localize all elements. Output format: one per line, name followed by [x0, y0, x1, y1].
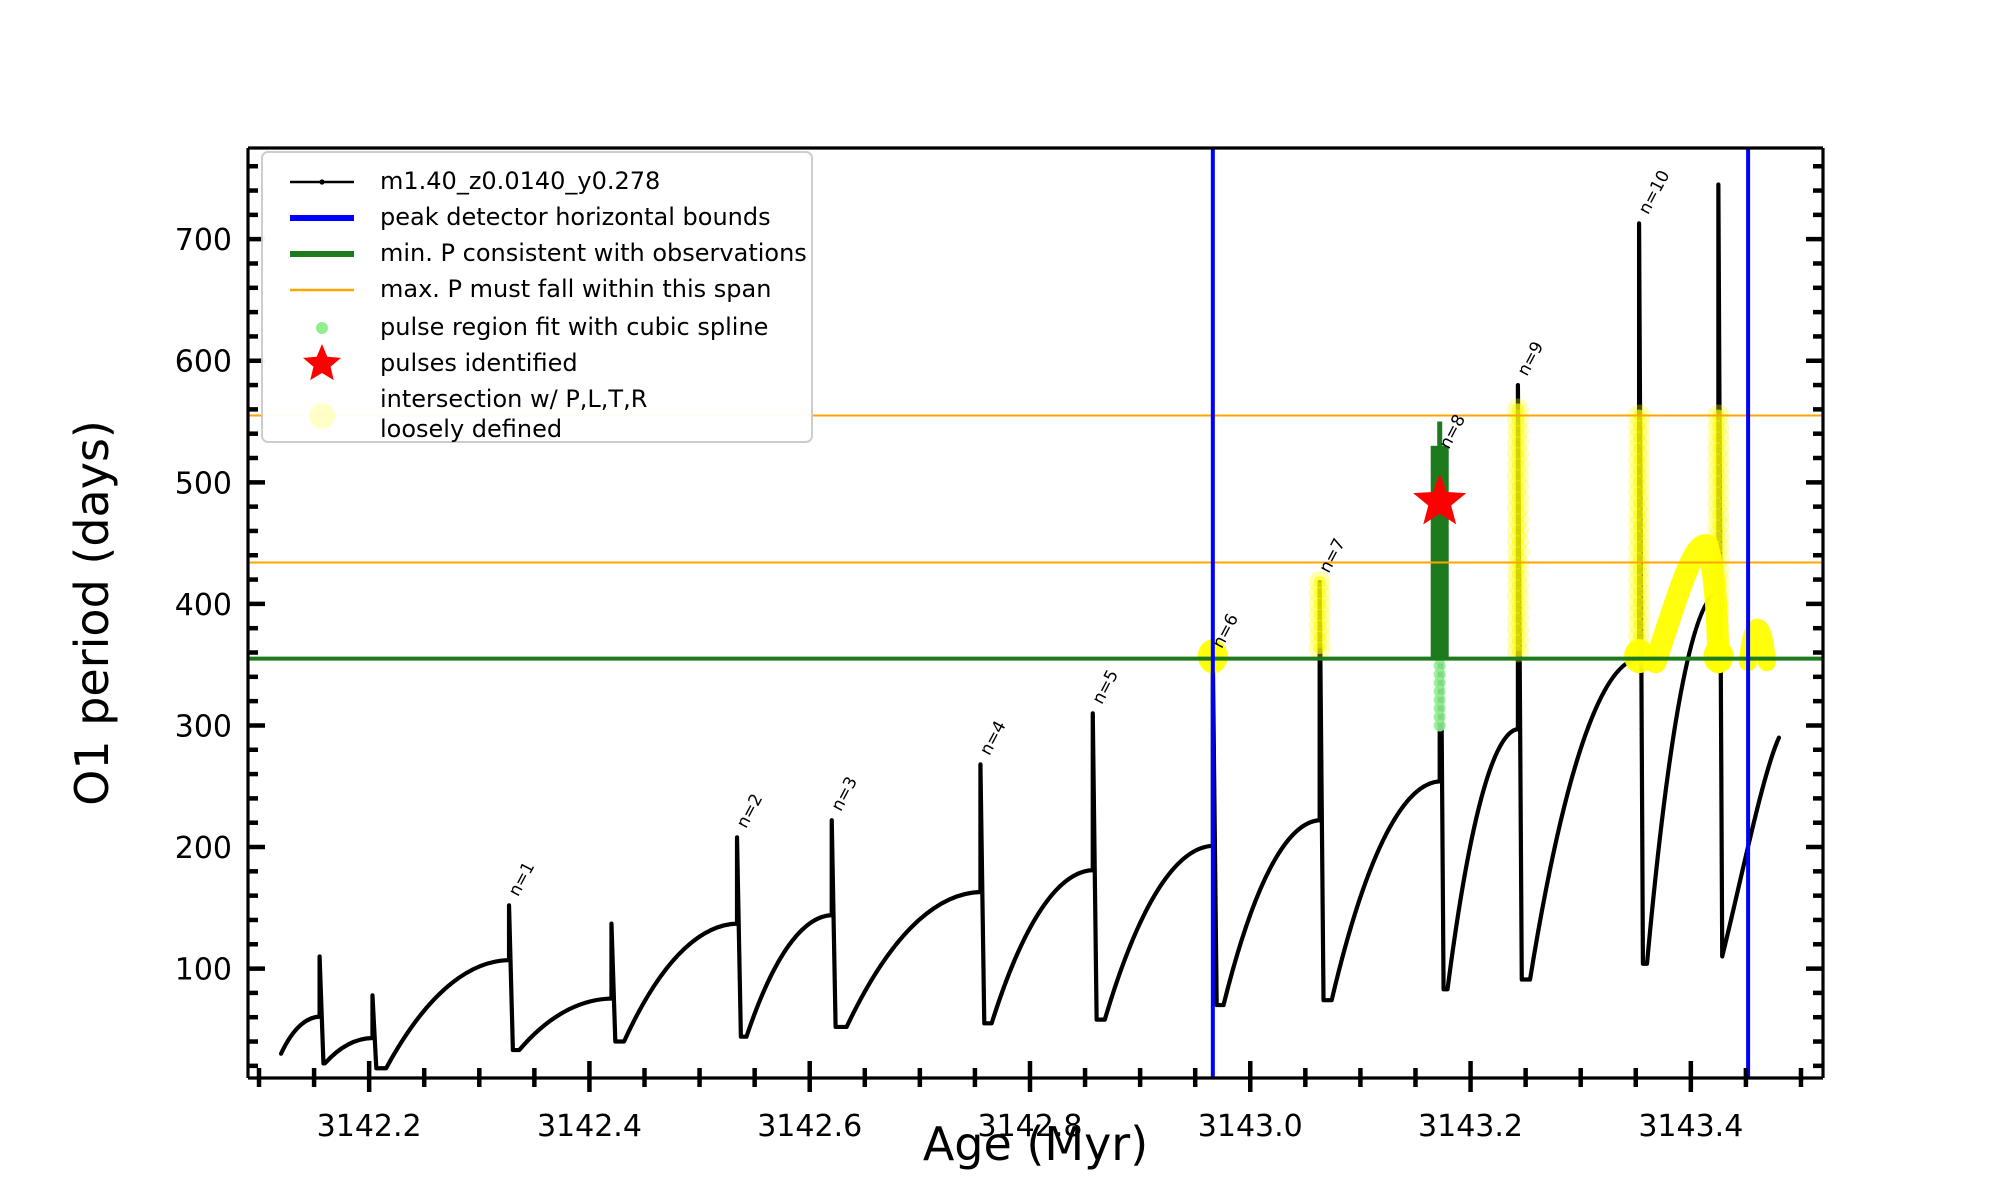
track-point	[1734, 896, 1738, 900]
track-point	[1717, 335, 1721, 339]
track-point	[1640, 713, 1644, 717]
track-point	[320, 1020, 324, 1024]
track-point	[1440, 821, 1444, 825]
green-pulse-region-group	[1431, 422, 1449, 659]
track-point	[1719, 713, 1723, 717]
track-point	[1441, 926, 1445, 930]
track-point	[1717, 237, 1721, 241]
track-point	[1519, 896, 1523, 900]
track-point	[1321, 982, 1325, 986]
track-point	[1441, 849, 1445, 853]
track-point	[833, 973, 837, 977]
track-point	[1538, 922, 1542, 926]
track-point	[1637, 251, 1641, 255]
track-point	[1717, 314, 1721, 318]
track-point	[1520, 931, 1524, 935]
track-point	[1319, 758, 1323, 762]
track-point	[1740, 869, 1744, 873]
track-point	[518, 1047, 522, 1051]
legend-label: min. P consistent with observations	[380, 239, 807, 267]
track-point	[1256, 894, 1260, 898]
track-point	[1719, 727, 1723, 731]
track-point	[1663, 796, 1667, 800]
track-point	[1719, 776, 1723, 780]
track-point	[1320, 835, 1324, 839]
track-point	[1519, 784, 1523, 788]
track-point	[1648, 935, 1652, 939]
track-point	[1720, 818, 1724, 822]
track-point	[985, 1021, 989, 1025]
track-point	[1640, 804, 1644, 808]
x-axis-label: Age (Myr)	[923, 1117, 1148, 1171]
track-point	[1520, 945, 1524, 949]
legend-label: pulse region fit with cubic spline	[380, 313, 768, 341]
track-point	[1640, 706, 1644, 710]
track-point	[1640, 811, 1644, 815]
track-point	[738, 1004, 742, 1008]
track-point	[1251, 907, 1255, 911]
track-point	[1775, 741, 1779, 745]
track-point	[1660, 817, 1664, 821]
track-point	[982, 975, 986, 979]
track-point	[827, 913, 831, 917]
track-point	[613, 1026, 617, 1030]
track-point	[1127, 948, 1131, 952]
track-point	[1717, 258, 1721, 262]
track-point	[1662, 803, 1666, 807]
track-point	[377, 1066, 381, 1070]
track-point	[1440, 772, 1444, 776]
track-point	[612, 984, 616, 988]
legend[interactable]: m1.40_z0.0140_y0.278peak detector horizo…	[262, 152, 812, 443]
track-point	[1641, 923, 1645, 927]
track-point	[1106, 1008, 1110, 1012]
track-point	[1337, 968, 1341, 972]
track-point	[705, 931, 709, 935]
track-point	[290, 1034, 294, 1038]
track-point	[1197, 847, 1201, 851]
track-point	[459, 975, 463, 979]
track-point	[1768, 761, 1772, 765]
track-point	[580, 1002, 584, 1006]
track-point	[981, 947, 985, 951]
track-point	[1441, 856, 1445, 860]
track-point	[770, 971, 774, 975]
track-point	[1519, 868, 1523, 872]
track-point	[356, 1038, 360, 1042]
track-point	[980, 863, 984, 867]
track-point	[1366, 874, 1370, 878]
track-point	[1533, 949, 1537, 953]
track-point	[1518, 756, 1522, 760]
track-point	[875, 970, 879, 974]
intersection-marker	[1314, 642, 1326, 654]
track-point	[1520, 959, 1524, 963]
track-point	[1717, 244, 1721, 248]
track-point	[373, 1048, 377, 1052]
track-point	[1093, 910, 1097, 914]
track-point	[1638, 398, 1642, 402]
track-point	[508, 951, 512, 955]
track-point	[1479, 797, 1483, 801]
track-point	[1604, 687, 1608, 691]
track-point	[373, 1034, 377, 1038]
track-point	[511, 1042, 515, 1046]
track-point	[1170, 869, 1174, 873]
track-point	[1119, 968, 1123, 972]
track-point	[777, 959, 781, 963]
track-point	[1640, 839, 1644, 843]
track-point	[1657, 845, 1661, 849]
track-point	[1380, 842, 1384, 846]
track-point	[1326, 998, 1330, 1002]
track-point	[699, 934, 703, 938]
track-point	[1518, 728, 1522, 732]
track-point	[1720, 853, 1724, 857]
track-point	[1562, 805, 1566, 809]
track-point	[1640, 797, 1644, 801]
track-point	[373, 1041, 377, 1045]
track-point	[1353, 914, 1357, 918]
track-point	[1410, 795, 1414, 799]
track-point	[1656, 852, 1660, 856]
track-point	[1556, 833, 1560, 837]
track-point	[925, 912, 929, 916]
track-point	[737, 934, 741, 938]
x-tick-label: 3143.4	[1638, 1109, 1743, 1144]
track-point	[1477, 804, 1481, 808]
track-point	[1637, 244, 1641, 248]
track-point	[318, 971, 322, 975]
track-point	[1647, 942, 1651, 946]
track-point	[350, 1041, 354, 1045]
track-point	[1180, 859, 1184, 863]
track-point	[612, 1005, 616, 1009]
track-point	[1720, 888, 1724, 892]
track-point	[871, 976, 875, 980]
x-tick-label: 3143.0	[1198, 1109, 1303, 1144]
track-point	[299, 1023, 303, 1027]
track-point	[1321, 968, 1325, 972]
track-point	[1640, 727, 1644, 731]
track-point	[980, 884, 984, 888]
track-point	[746, 1030, 750, 1034]
track-point	[1045, 899, 1049, 903]
legend-label: pulses identified	[380, 349, 578, 377]
track-point	[1680, 685, 1684, 689]
track-point	[1717, 209, 1721, 213]
track-point	[471, 968, 475, 972]
track-point	[1592, 712, 1596, 716]
track-point	[830, 847, 834, 851]
track-point	[1597, 699, 1601, 703]
track-point	[837, 1025, 841, 1029]
track-point	[909, 926, 913, 930]
track-point	[613, 1019, 617, 1023]
track-point	[1020, 941, 1024, 945]
track-point	[833, 1001, 837, 1005]
track-point	[982, 989, 986, 993]
track-point	[319, 985, 323, 989]
track-point	[318, 964, 322, 968]
track-point	[320, 1006, 324, 1010]
track-point	[1440, 800, 1444, 804]
track-point	[663, 968, 667, 972]
track-point	[1534, 942, 1538, 946]
track-point	[1122, 961, 1126, 965]
track-point	[453, 979, 457, 983]
track-point	[614, 1040, 618, 1044]
track-point	[1640, 762, 1644, 766]
plot-svg: n=1n=2n=3n=4n=5n=6n=7n=8n=9n=10100200300…	[0, 0, 2000, 1200]
track-point	[1661, 810, 1665, 814]
track-point	[724, 923, 728, 927]
track-point	[756, 1003, 760, 1007]
track-point	[1091, 728, 1095, 732]
track-point	[1371, 861, 1375, 865]
track-point	[1248, 913, 1252, 917]
track-point	[834, 1022, 838, 1026]
track-point	[1258, 887, 1262, 891]
track-point	[1320, 828, 1324, 832]
track-point	[1030, 923, 1034, 927]
track-point	[1518, 686, 1522, 690]
track-point	[737, 948, 741, 952]
track-point	[321, 1048, 325, 1052]
track-point	[1094, 938, 1098, 942]
track-point	[1253, 900, 1257, 904]
track-point	[1319, 730, 1323, 734]
track-point	[878, 964, 882, 968]
track-point	[1540, 908, 1544, 912]
track-point	[1319, 751, 1323, 755]
track-point	[1441, 863, 1445, 867]
track-point	[832, 945, 836, 949]
track-point	[612, 998, 616, 1002]
track-point	[834, 1015, 838, 1019]
track-point	[1440, 737, 1444, 741]
track-point	[1091, 721, 1095, 725]
track-point	[1454, 927, 1458, 931]
track-point	[1519, 847, 1523, 851]
track-point	[1108, 1001, 1112, 1005]
track-point	[1441, 947, 1445, 951]
track-point	[1244, 926, 1248, 930]
track-point	[1638, 321, 1642, 325]
track-point	[388, 1060, 392, 1064]
track-point	[1737, 883, 1741, 887]
track-point	[279, 1052, 283, 1056]
track-point	[1717, 349, 1721, 353]
track-point	[1719, 678, 1723, 682]
track-point	[833, 994, 837, 998]
track-point	[767, 978, 771, 982]
track-point	[510, 1000, 514, 1004]
track-point	[1717, 216, 1721, 220]
track-point	[319, 978, 323, 982]
track-point	[1640, 776, 1644, 780]
track-point	[1640, 748, 1644, 752]
track-point	[1440, 751, 1444, 755]
track-point	[1092, 763, 1096, 767]
track-point	[510, 1007, 514, 1011]
track-point	[1641, 944, 1645, 948]
track-point	[1611, 675, 1615, 679]
track-point	[610, 922, 614, 926]
track-point	[1321, 954, 1325, 958]
track-point	[1717, 286, 1721, 290]
track-point	[982, 1017, 986, 1021]
track-point	[1519, 903, 1523, 907]
track-point	[1557, 826, 1561, 830]
track-point	[1440, 758, 1444, 762]
track-point	[982, 1003, 986, 1007]
track-point	[891, 947, 895, 951]
track-point	[1132, 935, 1136, 939]
track-point	[1759, 794, 1763, 798]
track-point	[1094, 966, 1098, 970]
track-point	[1518, 693, 1522, 697]
track-point	[1321, 947, 1325, 951]
track-point	[631, 1022, 635, 1026]
track-point	[1093, 882, 1097, 886]
track-point	[682, 947, 686, 951]
track-point	[1093, 847, 1097, 851]
track-point	[538, 1027, 542, 1031]
track-point	[1320, 870, 1324, 874]
track-point	[1440, 793, 1444, 797]
track-point	[497, 959, 501, 963]
track-point	[1321, 884, 1325, 888]
track-point	[1441, 898, 1445, 902]
track-point	[1519, 854, 1523, 858]
legend-entry-4[interactable]: pulse region fit with cubic spline	[316, 313, 768, 341]
track-point	[510, 1014, 514, 1018]
track-point	[1638, 391, 1642, 395]
track-point	[1717, 370, 1721, 374]
track-point	[1717, 342, 1721, 346]
track-point	[1092, 770, 1096, 774]
track-point	[1717, 230, 1721, 234]
track-point	[1519, 917, 1523, 921]
track-point	[1553, 846, 1557, 850]
track-point	[1094, 952, 1098, 956]
track-point	[1519, 770, 1523, 774]
track-point	[833, 980, 837, 984]
track-point	[1401, 805, 1405, 809]
track-point	[1093, 889, 1097, 893]
track-point	[1092, 791, 1096, 795]
track-point	[508, 944, 512, 948]
track-point	[1094, 959, 1098, 963]
track-point	[968, 891, 972, 895]
track-point	[1637, 223, 1641, 227]
track-point	[1350, 920, 1354, 924]
track-point	[1237, 946, 1241, 950]
track-point	[1492, 757, 1496, 761]
track-point	[1564, 799, 1568, 803]
track-point	[886, 953, 890, 957]
track-point	[1640, 783, 1644, 787]
track-point	[832, 910, 836, 914]
track-point	[509, 958, 513, 962]
track-point	[1519, 798, 1523, 802]
track-point	[736, 864, 740, 868]
track-point	[1770, 754, 1774, 758]
track-point	[1094, 980, 1098, 984]
track-point	[1640, 692, 1644, 696]
track-point	[1099, 1018, 1103, 1022]
track-point	[1334, 981, 1338, 985]
track-point	[1322, 996, 1326, 1000]
y-tick-label: 500	[175, 466, 232, 501]
track-point	[717, 925, 721, 929]
track-point	[1720, 937, 1724, 941]
track-point	[1695, 624, 1699, 628]
track-point	[1640, 860, 1644, 864]
track-point	[1440, 765, 1444, 769]
track-point	[1725, 937, 1729, 941]
track-point	[1319, 674, 1323, 678]
track-point	[882, 958, 886, 962]
track-point	[1112, 988, 1116, 992]
track-point	[1739, 876, 1743, 880]
track-point	[1641, 902, 1645, 906]
track-point	[1717, 279, 1721, 283]
track-point	[1529, 970, 1533, 974]
y-tick-label: 600	[175, 345, 232, 380]
track-point	[1742, 862, 1746, 866]
track-point	[1519, 861, 1523, 865]
track-point	[1640, 741, 1644, 745]
track-point	[1440, 814, 1444, 818]
y-tick-label: 400	[175, 588, 232, 623]
track-point	[1453, 934, 1457, 938]
track-point	[1076, 872, 1080, 876]
track-point	[1719, 734, 1723, 738]
track-point	[1222, 1000, 1226, 1004]
track-point	[611, 956, 615, 960]
track-point	[1720, 874, 1724, 878]
track-point	[1641, 867, 1645, 871]
track-point	[1004, 980, 1008, 984]
track-point	[1319, 695, 1323, 699]
track-point	[1383, 835, 1387, 839]
track-point	[1720, 860, 1724, 864]
track-point	[832, 952, 836, 956]
track-point	[990, 1020, 994, 1024]
track-point	[628, 1028, 632, 1032]
track-point	[1321, 975, 1325, 979]
track-point	[1357, 900, 1361, 904]
track-point	[830, 833, 834, 837]
track-point	[1215, 978, 1219, 982]
track-point	[371, 999, 375, 1003]
track-point	[1589, 718, 1593, 722]
track-point	[738, 983, 742, 987]
track-point	[593, 998, 597, 1002]
track-point	[423, 1008, 427, 1012]
track-point	[507, 909, 511, 913]
track-point	[982, 982, 986, 986]
track-point	[1476, 810, 1480, 814]
track-point	[1502, 738, 1506, 742]
track-point	[1441, 933, 1445, 937]
track-point	[1426, 782, 1430, 786]
track-point	[641, 1003, 645, 1007]
track-point	[371, 994, 375, 998]
track-point	[1224, 994, 1228, 998]
